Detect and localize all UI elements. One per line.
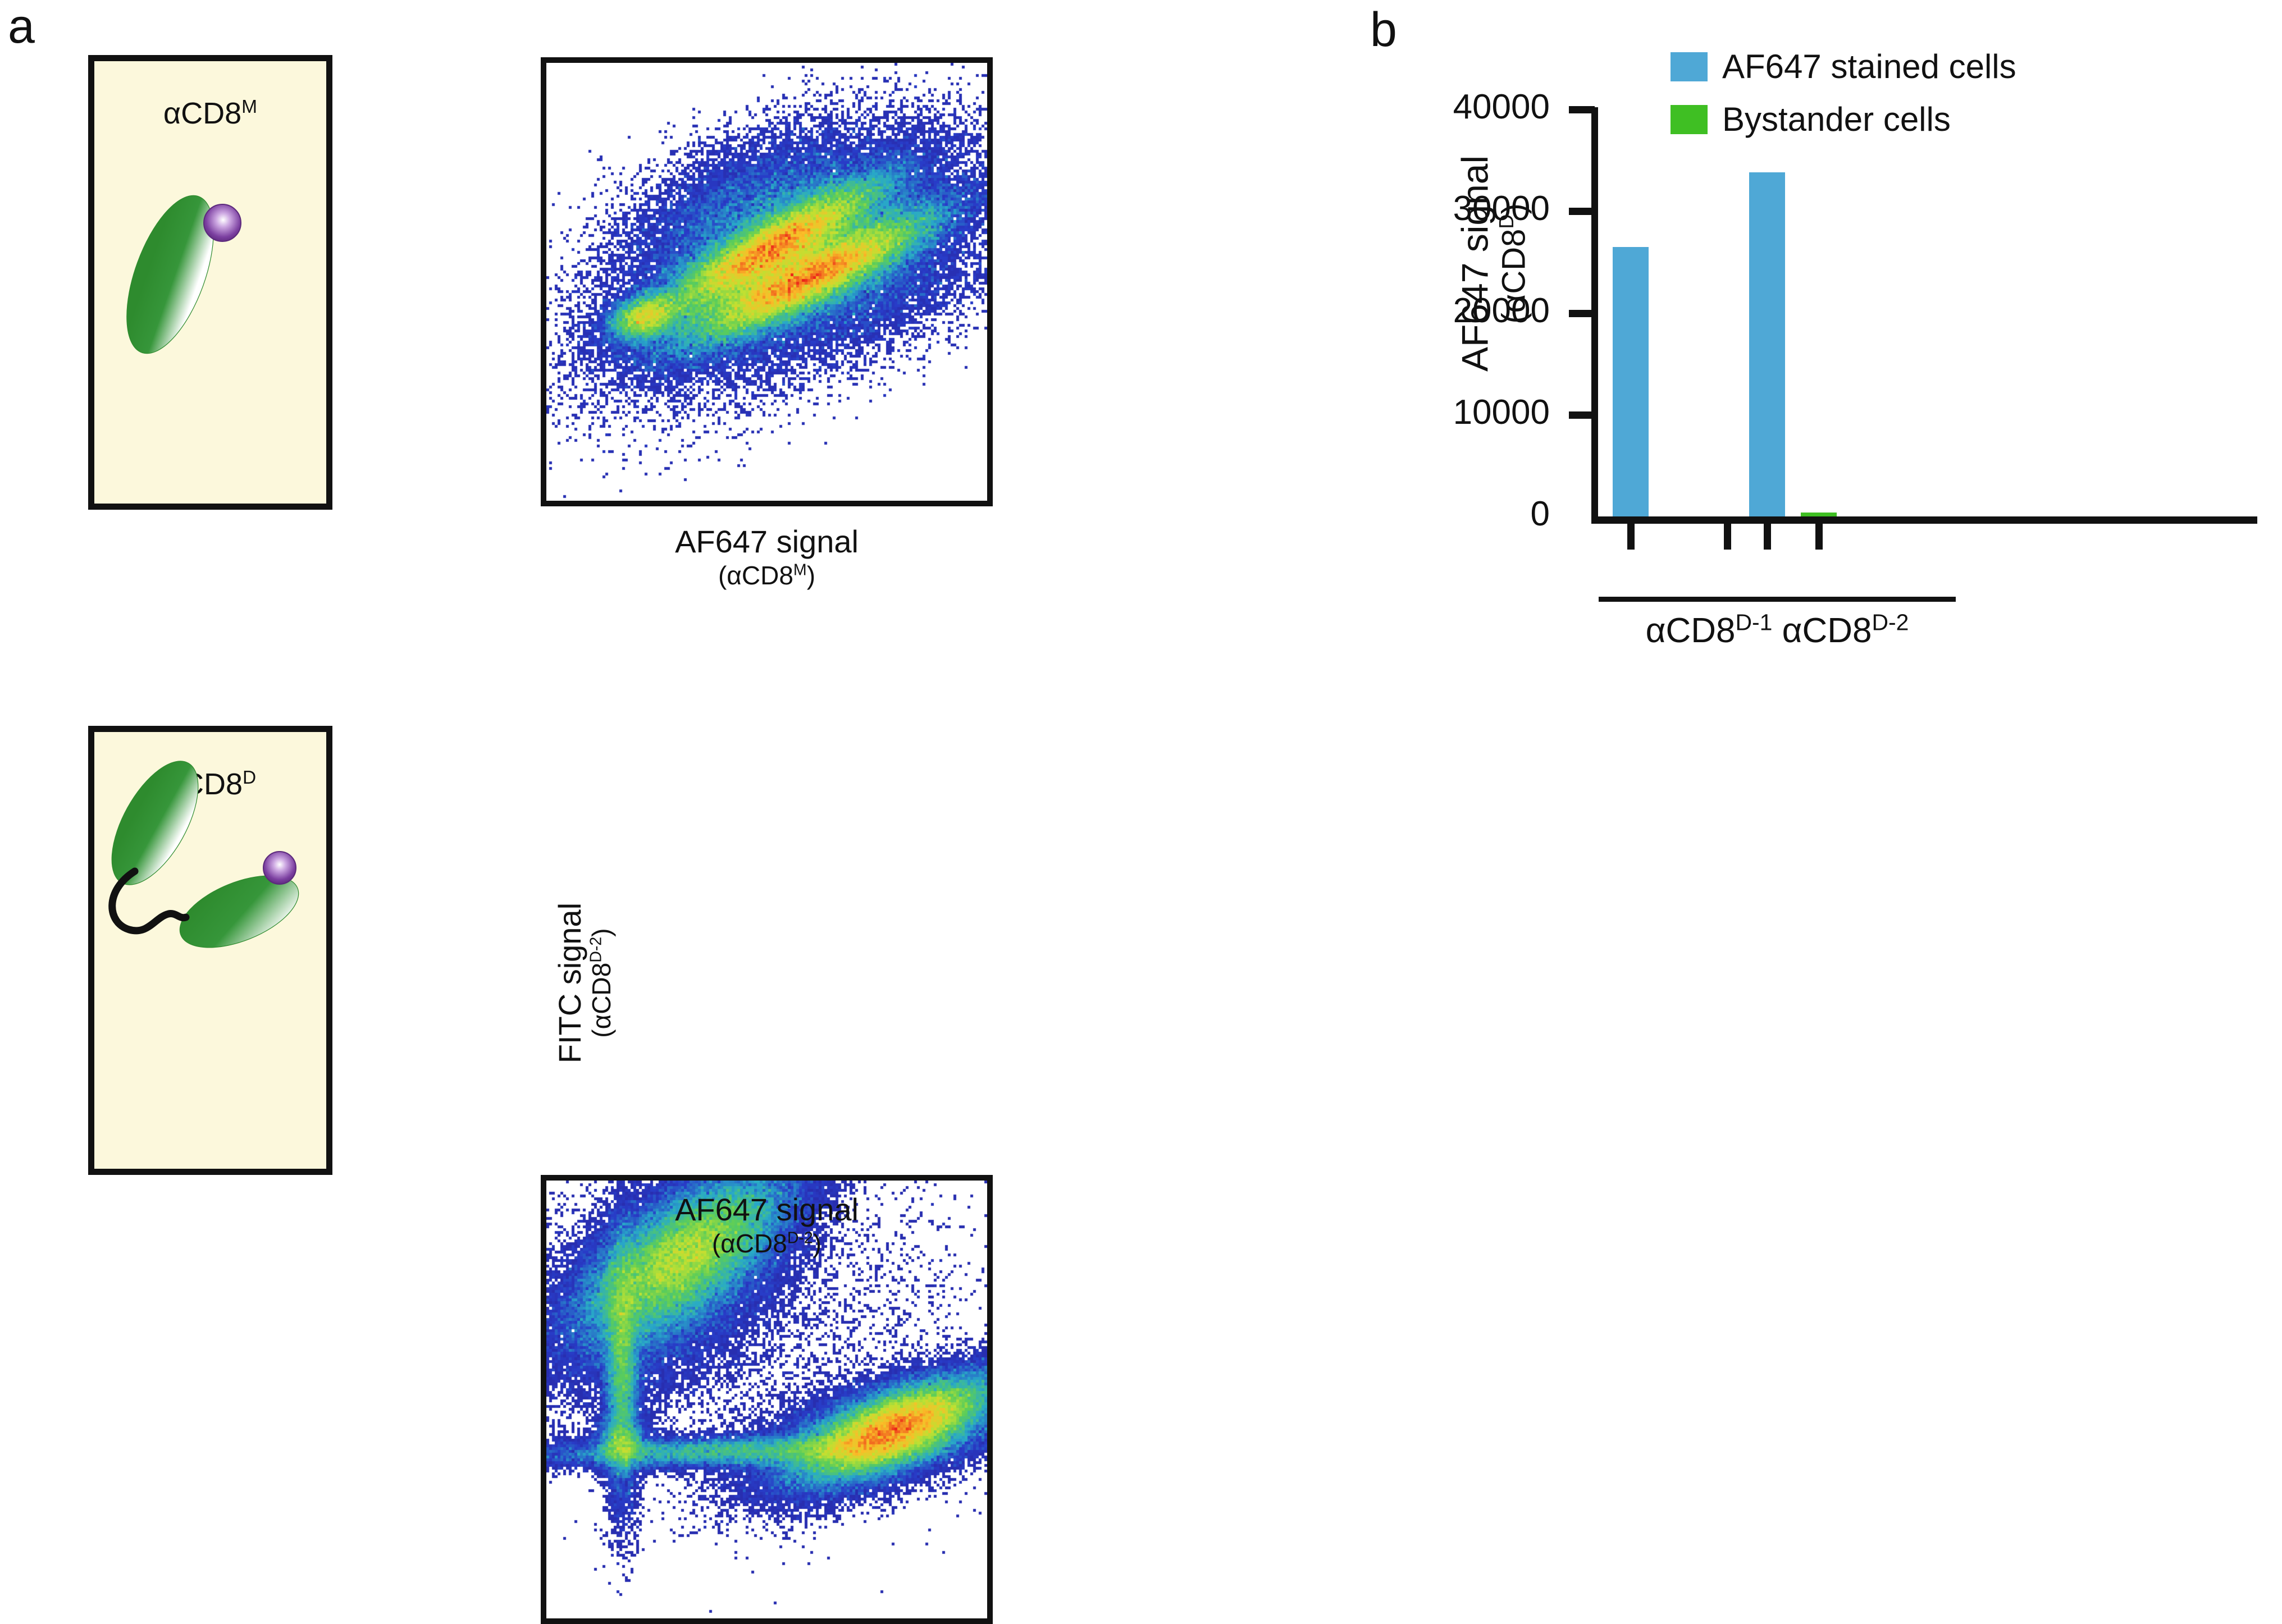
panel-a-letter: a [8, 2, 35, 51]
bar-chart-x-tick-3 [1815, 524, 1823, 550]
scatter-2-y-axis-line2-sup: D-2 [587, 937, 605, 963]
scatter-plot-monomer-canvas [546, 63, 987, 501]
bar-af647-d2[interactable] [1749, 172, 1785, 516]
scatter-2-y-axis-line2-close: ) [587, 928, 616, 936]
antibody-monomer-illustration [94, 61, 326, 504]
scatter-2-x-axis-line2-sup: D-2 [787, 1229, 813, 1247]
bar-chart-y-axis-line2: (αCD8D) [1496, 106, 1532, 420]
scatter-1-x-axis-line2: (αCD8M) [541, 560, 993, 591]
legend-item-bystander[interactable]: Bystander cells [1671, 100, 1951, 139]
group-label-base-1: αCD8 [1782, 611, 1872, 650]
bar-chart-y-tick-label-0: 0 [1325, 494, 1550, 534]
scatter-1-x-axis-line2-close: ) [807, 561, 815, 590]
scatter-plot-monomer [541, 57, 993, 506]
bar-chart-y-tick-10000 [1569, 411, 1595, 419]
bar-chart-y-axis-line2-close: ) [1495, 203, 1532, 214]
scatter-2-y-axis-label: FITC signal (αCD8D-2) [553, 826, 615, 1140]
bar-chart-group-label-1: αCD8D-2 [1735, 611, 1956, 651]
cartoon-box-monomer: αCD8M [88, 55, 332, 510]
legend-swatch-bystander [1671, 105, 1708, 134]
bar-chart-x-tick-1 [1724, 524, 1731, 550]
bar-chart-x-axis-line [1591, 516, 2257, 524]
bar-chart-y-tick-40000 [1569, 106, 1595, 113]
bar-chart-y-axis-line1: AF647 signal [1454, 155, 1496, 372]
legend-label-af647: AF647 stained cells [1722, 47, 2016, 86]
scatter-1-x-axis-line2-sup: M [793, 561, 807, 579]
scatter-2-x-axis-line2-base: (αCD8 [712, 1229, 787, 1258]
scatter-2-x-axis-label: AF647 signal (αCD8D-2) [541, 1191, 993, 1259]
scatter-1-x-axis-label: AF647 signal (αCD8M) [541, 523, 993, 591]
scatter-1-x-axis-line1: AF647 signal [675, 524, 859, 559]
bar-chart-y-axis-line2-base: (αCD8 [1495, 229, 1532, 324]
group-label-sup-0: D-1 [1735, 609, 1772, 635]
bar-chart-y-tick-20000 [1569, 310, 1595, 317]
scatter-2-y-axis-line2: (αCD8D-2) [587, 826, 616, 1140]
bar-chart-y-axis-line [1591, 107, 1598, 521]
panel-b-letter: b [1370, 6, 1397, 54]
legend-label-bystander: Bystander cells [1722, 100, 1951, 139]
bar-chart-x-tick-2 [1764, 524, 1771, 550]
group-label-base-0: αCD8 [1646, 611, 1736, 650]
scatter-1-x-axis-line2-base: (αCD8 [718, 561, 793, 590]
bar-chart-x-tick-0 [1627, 524, 1635, 550]
legend-item-af647[interactable]: AF647 stained cells [1671, 47, 2016, 86]
bar-chart-y-axis-line2-sup: D [1495, 214, 1518, 229]
bar-chart-group-label-0: αCD8D-1 [1599, 611, 1819, 651]
bar-chart-y-axis-label: AF647 signal (αCD8D) [1455, 106, 1533, 420]
cartoon-box-dimer: αCD8D [88, 726, 332, 1175]
scatter-2-x-axis-line2: (αCD8D-2) [541, 1228, 993, 1259]
group-label-sup-1: D-2 [1872, 609, 1909, 635]
scatter-2-x-axis-line1: AF647 signal [675, 1192, 859, 1227]
scatter-2-y-axis-line2-base: (αCD8 [587, 963, 616, 1038]
scatter-2-x-axis-line2-close: ) [813, 1229, 821, 1258]
bar-bystander-d2[interactable] [1801, 513, 1837, 516]
bar-chart-group-rule-1 [1735, 597, 1956, 602]
scatter-2-y-axis-line1: FITC signal [553, 826, 587, 1140]
bar-af647-d1[interactable] [1613, 247, 1649, 516]
legend-swatch-af647 [1671, 52, 1708, 81]
antibody-dimer-illustration [94, 732, 326, 1169]
bar-chart-group-rule-0 [1599, 597, 1819, 602]
bar-chart-y-tick-30000 [1569, 208, 1595, 215]
bar-chart-plot-area: 010000200003000040000αCD8D-1αCD8D-2 [0, 0, 2282, 1282]
